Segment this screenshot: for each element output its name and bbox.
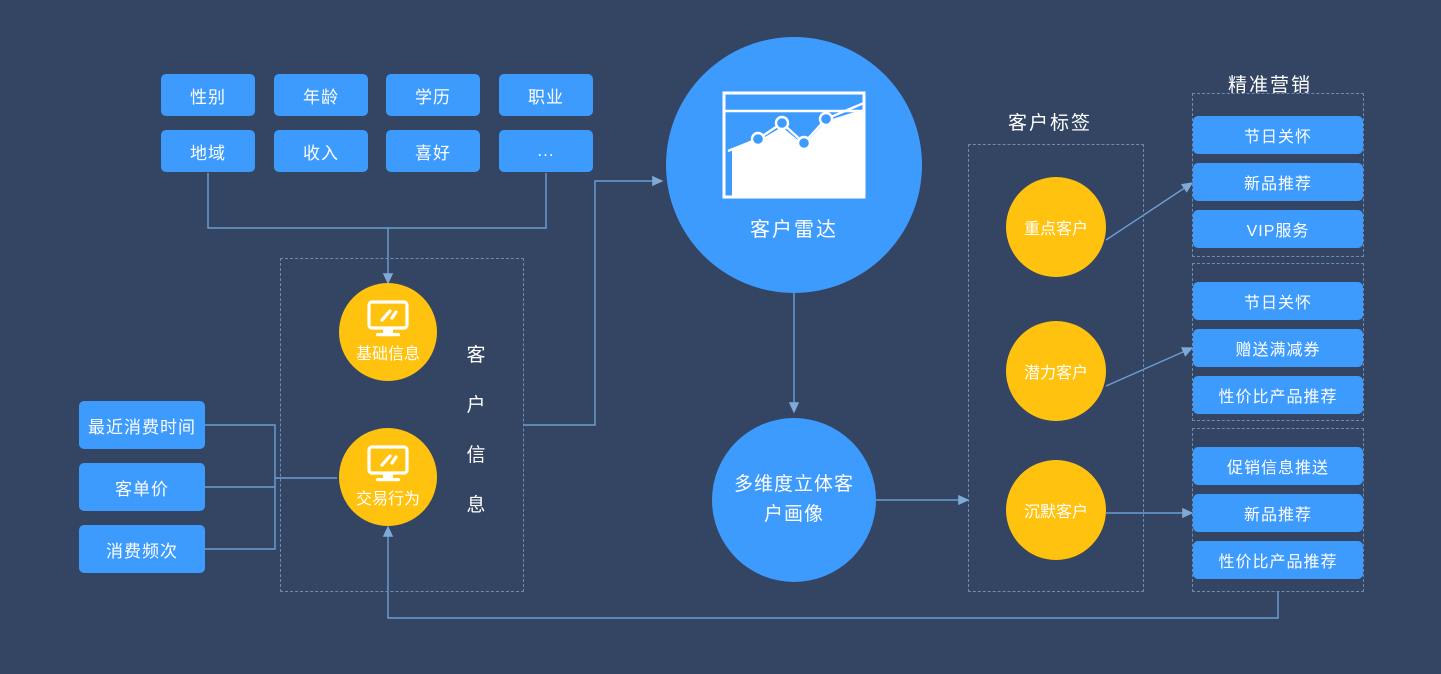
- attribute-box-more[interactable]: ...: [499, 130, 593, 172]
- tag-label: 沉默客户: [1024, 498, 1088, 522]
- attribute-label: 地域: [190, 139, 226, 164]
- monitor-icon: [365, 445, 411, 483]
- attribute-label: 职业: [528, 83, 564, 108]
- marketing-label: 性价比产品推荐: [1218, 383, 1337, 407]
- marketing-label: 节日关怀: [1244, 123, 1312, 147]
- attribute-label: 收入: [303, 139, 339, 164]
- marketing-item-value-product-1[interactable]: 性价比产品推荐: [1193, 376, 1363, 414]
- marketing-item-new-product-2[interactable]: 新品推荐: [1193, 494, 1363, 532]
- attribute-box-education[interactable]: 学历: [386, 74, 480, 116]
- wire-attributes-bus: [208, 173, 546, 228]
- marketing-item-coupon[interactable]: 赠送满减券: [1193, 329, 1363, 367]
- transaction-box-frequency[interactable]: 消费频次: [79, 525, 205, 573]
- tag-label: 潜力客户: [1024, 359, 1088, 383]
- attribute-box-income[interactable]: 收入: [274, 130, 368, 172]
- tag-circle-key-customer[interactable]: 重点客户: [1006, 177, 1106, 277]
- marketing-label: 赠送满减券: [1235, 336, 1320, 360]
- attribute-label: 性别: [190, 83, 226, 108]
- transaction-label: 消费频次: [106, 537, 178, 562]
- marketing-label: 促销信息推送: [1227, 454, 1329, 478]
- attribute-box-age[interactable]: 年龄: [274, 74, 368, 116]
- node-customer-radar[interactable]: 客户雷达: [666, 37, 922, 293]
- diagram-canvas: 性别 年龄 学历 职业 地域 收入 喜好 ... 最近消费时间 客单价 消费频次…: [0, 0, 1441, 674]
- node-customer-portrait[interactable]: 多维度立体客 户画像: [712, 418, 876, 582]
- marketing-item-value-product-2[interactable]: 性价比产品推荐: [1193, 541, 1363, 579]
- marketing-item-new-product-1[interactable]: 新品推荐: [1193, 163, 1363, 201]
- attribute-label: 喜好: [415, 139, 451, 164]
- tag-circle-potential-customer[interactable]: 潜力客户: [1006, 321, 1106, 421]
- attribute-label: 年龄: [303, 83, 339, 108]
- marketing-label: VIP服务: [1247, 217, 1310, 241]
- transaction-label: 最近消费时间: [88, 413, 196, 438]
- transaction-label: 客单价: [115, 475, 169, 500]
- transaction-box-avg-order[interactable]: 客单价: [79, 463, 205, 511]
- customer-info-vertical-label: 客户信息: [464, 331, 490, 531]
- portrait-line-2: 户画像: [764, 500, 824, 530]
- wire-frequency: [205, 478, 275, 549]
- portrait-line-1: 多维度立体客: [734, 470, 854, 500]
- marketing-label: 性价比产品推荐: [1218, 548, 1337, 572]
- marketing-item-vip-service[interactable]: VIP服务: [1193, 210, 1363, 248]
- attribute-box-occupation[interactable]: 职业: [499, 74, 593, 116]
- marketing-label: 新品推荐: [1244, 501, 1312, 525]
- customer-tags-title: 客户标签: [1008, 108, 1092, 135]
- marketing-label: 节日关怀: [1244, 289, 1312, 313]
- line-chart-icon: [720, 89, 868, 201]
- attribute-label: 学历: [415, 83, 451, 108]
- attribute-box-preference[interactable]: 喜好: [386, 130, 480, 172]
- node-transaction-behavior[interactable]: 交易行为: [339, 428, 437, 526]
- attribute-box-gender[interactable]: 性别: [161, 74, 255, 116]
- marketing-label: 新品推荐: [1244, 170, 1312, 194]
- monitor-icon: [365, 300, 411, 338]
- marketing-item-promo-push[interactable]: 促销信息推送: [1193, 447, 1363, 485]
- wire-info-to-radar: [524, 181, 662, 425]
- node-label: 客户雷达: [750, 213, 838, 242]
- attribute-label: ...: [537, 141, 554, 161]
- tag-label: 重点客户: [1024, 215, 1088, 239]
- transaction-box-recency[interactable]: 最近消费时间: [79, 401, 205, 449]
- node-basic-info[interactable]: 基础信息: [339, 283, 437, 381]
- tag-circle-silent-customer[interactable]: 沉默客户: [1006, 460, 1106, 560]
- node-label: 交易行为: [356, 485, 420, 509]
- marketing-item-holiday-care-2[interactable]: 节日关怀: [1193, 282, 1363, 320]
- attribute-box-region[interactable]: 地域: [161, 130, 255, 172]
- node-label: 基础信息: [356, 340, 420, 364]
- marketing-item-holiday-care-1[interactable]: 节日关怀: [1193, 116, 1363, 154]
- wire-recency: [205, 425, 275, 478]
